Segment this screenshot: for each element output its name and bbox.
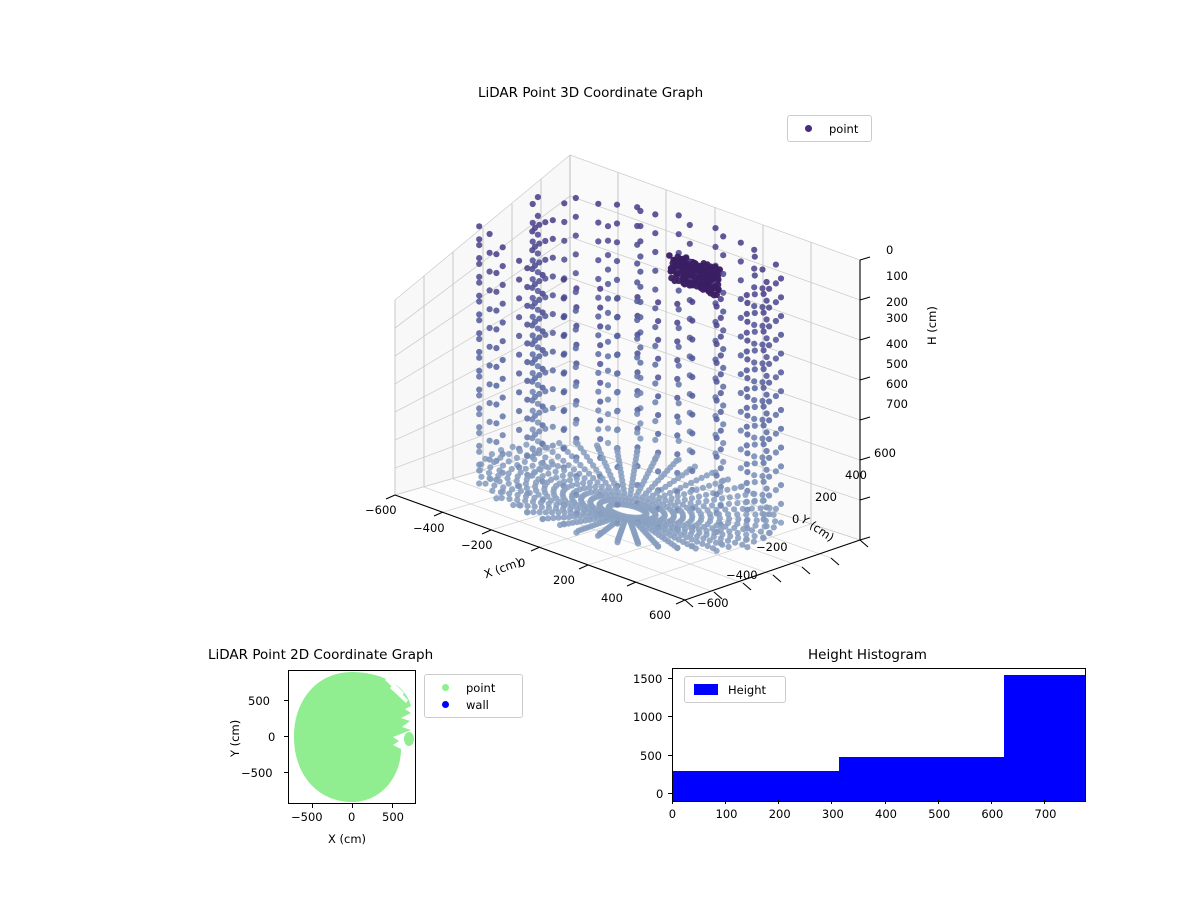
xhist-tick-100: 100 [716,807,738,821]
x2d-tickmark-500 [392,804,393,808]
lidar-2d-canvas [289,671,415,803]
lidar-2d-axes[interactable] [288,670,416,804]
chart-2d-title: LiDAR Point 2D Coordinate Graph [208,647,433,663]
y2d-tick-500: 500 [248,694,270,708]
xhist-tickmark-700 [1044,800,1045,804]
yhist-tick-500: 500 [640,749,662,763]
yhist-tickmark-1000 [668,716,672,717]
yhist-tickmark-1500 [668,678,672,679]
point-marker-icon [432,684,458,691]
xhist-tick-0: 0 [669,807,676,821]
xhist-tickmark-0 [672,800,673,804]
xhist-tick-200: 200 [769,807,791,821]
legend-entry-point: point [795,120,864,137]
h3d-axis-label: H (cm) [925,306,939,345]
yhist-tick-1000: 1000 [633,710,662,724]
y3d-tick--600: −600 [697,596,729,610]
legend-label-point: point [821,122,858,136]
h3d-tick-200: 200 [886,295,908,309]
xhist-tick-600: 600 [981,807,1003,821]
x3d-tick--400: −400 [413,521,445,535]
histogram-legend[interactable]: Height [684,676,786,703]
x2d-tick-0: 0 [348,810,355,824]
xhist-tick-700: 700 [1035,807,1057,821]
chart-2d-legend[interactable]: point wall [424,674,523,718]
lidar-3d-axes[interactable] [300,140,920,630]
xhist-tickmark-100 [725,800,726,804]
x3d-tick-200: 200 [553,573,575,587]
point-cloud-2d-area [294,672,411,802]
x2d-tickmark--500 [312,804,313,808]
legend-label-point: point [458,681,495,695]
y3d-tick-400: 400 [845,468,867,482]
y2d-tickmark--500 [284,772,288,773]
yhist-tickmark-500 [668,755,672,756]
xhist-tickmark-300 [831,800,832,804]
xhist-tickmark-400 [885,800,886,804]
y2d-tickmark-500 [284,700,288,701]
h3d-tick-0: 0 [886,243,893,257]
histogram-bar [673,771,839,801]
h3d-tick-600: 600 [886,377,908,391]
h3d-tick-100: 100 [886,269,908,283]
yhist-tickmark-0 [668,793,672,794]
y3d-tick-600: 600 [874,446,896,460]
chart-3d-legend[interactable]: point [787,115,872,142]
xhist-tickmark-600 [991,800,992,804]
xhist-tick-500: 500 [928,807,950,821]
lidar-3d-canvas [300,140,920,630]
x3d-tick--600: −600 [365,503,397,517]
legend-entry-height: Height [692,681,778,698]
h3d-tick-300: 300 [886,311,908,325]
chart-3d-title: LiDAR Point 3D Coordinate Graph [478,85,703,101]
h3d-tick-700: 700 [886,397,908,411]
x2d-tick--500: −500 [291,810,323,824]
x2d-tickmark-0 [352,804,353,808]
x3d-tick-600: 600 [649,608,671,622]
legend-label-height: Height [720,683,766,697]
wall-marker-icon [432,701,458,708]
xhist-tick-400: 400 [875,807,897,821]
x3d-tick-400: 400 [601,591,623,605]
h3d-tick-500: 500 [886,357,908,371]
yhist-tick-0: 0 [656,787,663,801]
y2d-tickmark-0 [284,736,288,737]
legend-entry-point: point [432,679,515,696]
y2d-tick--500: −500 [241,766,273,780]
xhist-tickmark-200 [778,800,779,804]
histogram-title: Height Histogram [808,647,927,663]
height-patch-icon [692,684,720,695]
y3d-tick--400: −400 [726,568,758,582]
point-marker-icon [795,125,821,132]
y2d-tick-0: 0 [268,730,275,744]
y3d-tick--200: −200 [756,540,788,554]
x2d-tick-500: 500 [382,810,404,824]
histogram-bar [839,757,1004,801]
h3d-tick-400: 400 [886,337,908,351]
histogram-bar [1004,675,1085,801]
y3d-tick-200: 200 [815,490,837,504]
x2d-axis-label: X (cm) [328,832,366,846]
xhist-tick-300: 300 [822,807,844,821]
xhist-tickmark-500 [938,800,939,804]
legend-entry-wall: wall [432,696,515,713]
x3d-tick--200: −200 [461,538,493,552]
legend-label-wall: wall [458,698,489,712]
y2d-axis-label: Y (cm) [228,720,242,757]
matplotlib-figure: LiDAR Point 3D Coordinate Graph [0,0,1200,900]
yhist-tick-1500: 1500 [633,672,662,686]
